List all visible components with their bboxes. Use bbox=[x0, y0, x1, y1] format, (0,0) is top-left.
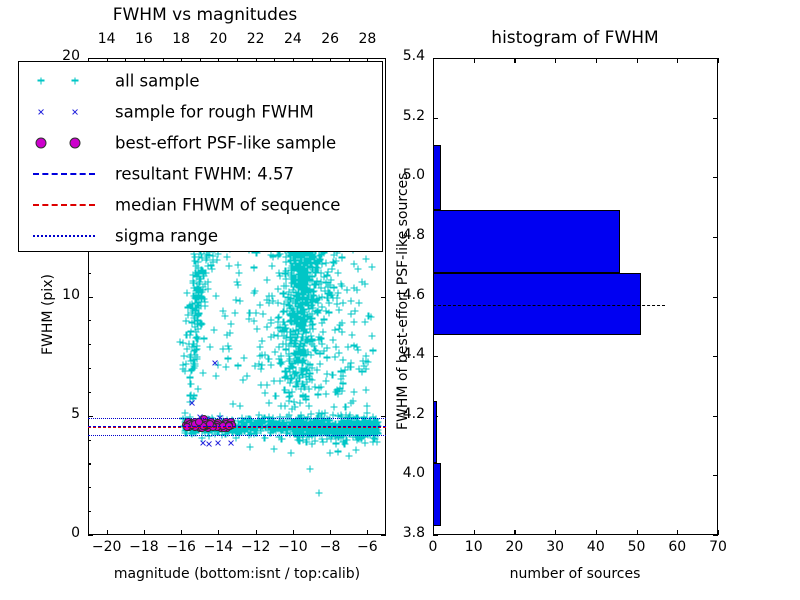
scatter-point-all-sample bbox=[363, 403, 370, 410]
scatter-point-all-sample bbox=[288, 262, 295, 269]
scatter-point-all-sample bbox=[192, 423, 199, 430]
scatter-point-all-sample bbox=[335, 423, 342, 430]
scatter-point-all-sample bbox=[212, 424, 219, 431]
scatter-point-all-sample bbox=[286, 318, 293, 325]
scatter-point-all-sample bbox=[224, 417, 231, 424]
scatter-point-all-sample bbox=[326, 290, 333, 297]
scatter-point-all-sample bbox=[302, 425, 309, 432]
scatter-point-all-sample bbox=[270, 423, 277, 430]
scatter-point-all-sample bbox=[196, 421, 203, 428]
scatter-point-all-sample bbox=[313, 280, 320, 287]
scatter-point-all-sample bbox=[352, 425, 359, 432]
scatter-point-all-sample bbox=[307, 313, 314, 320]
scatter-point-all-sample bbox=[353, 425, 360, 432]
scatter-point-all-sample bbox=[286, 252, 293, 259]
scatter-point-all-sample bbox=[340, 429, 347, 436]
legend-row[interactable]: resultant FWHM: 4.57 bbox=[19, 158, 382, 189]
scatter-point-all-sample bbox=[317, 422, 324, 429]
scatter-point-all-sample bbox=[222, 430, 229, 437]
scatter-point-psf-sample bbox=[213, 423, 221, 431]
scatter-point-all-sample bbox=[316, 384, 323, 391]
scatter-point-all-sample bbox=[341, 440, 348, 447]
scatter-point-all-sample bbox=[196, 294, 203, 301]
scatter-point-all-sample bbox=[256, 420, 263, 427]
scatter-point-all-sample bbox=[281, 425, 288, 432]
scatter-point-all-sample bbox=[191, 422, 198, 429]
scatter-point-all-sample bbox=[316, 360, 323, 367]
scatter-point-all-sample bbox=[300, 268, 307, 275]
scatter-point-all-sample bbox=[180, 362, 187, 369]
scatter-point-all-sample bbox=[191, 363, 198, 370]
scatter-point-all-sample bbox=[295, 427, 302, 434]
scatter-point-all-sample bbox=[290, 298, 297, 305]
scatter-point-all-sample bbox=[324, 426, 331, 433]
scatter-point-all-sample bbox=[193, 342, 200, 349]
scatter-point-all-sample bbox=[223, 254, 230, 261]
scatter-point-all-sample bbox=[192, 295, 199, 302]
legend-row[interactable]: median FHWM of sequence bbox=[19, 189, 382, 220]
scatter-point-all-sample bbox=[187, 381, 194, 388]
scatter-point-all-sample bbox=[214, 362, 221, 369]
scatter-point-all-sample bbox=[286, 351, 293, 358]
legend-row[interactable]: all sample bbox=[19, 65, 382, 96]
scatter-point-all-sample bbox=[349, 332, 356, 339]
scatter-point-all-sample bbox=[299, 349, 306, 356]
scatter-point-all-sample bbox=[227, 426, 234, 433]
scatter-point-all-sample bbox=[314, 419, 321, 426]
scatter-point-all-sample bbox=[303, 258, 310, 265]
scatter-point-all-sample bbox=[288, 309, 295, 316]
scatter-point-all-sample bbox=[222, 426, 229, 433]
scatter-point-all-sample bbox=[215, 428, 222, 435]
scatter-point-all-sample bbox=[314, 264, 321, 271]
scatter-point-all-sample bbox=[238, 424, 245, 431]
scatter-point-all-sample bbox=[305, 292, 312, 299]
scatter-point-all-sample bbox=[321, 316, 328, 323]
scatter-point-psf-sample bbox=[200, 415, 208, 423]
scatter-point-all-sample bbox=[190, 360, 197, 367]
scatter-point-all-sample bbox=[266, 413, 273, 420]
scatter-point-all-sample bbox=[365, 430, 372, 437]
scatter-point-all-sample bbox=[337, 412, 344, 419]
scatter-point-all-sample bbox=[206, 344, 213, 351]
scatter-point-all-sample bbox=[357, 434, 364, 441]
scatter-point-all-sample bbox=[195, 293, 202, 300]
scatter-point-all-sample bbox=[343, 286, 350, 293]
scatter-point-all-sample bbox=[277, 403, 284, 410]
scatter-point-all-sample bbox=[363, 366, 370, 373]
scatter-point-all-sample bbox=[282, 341, 289, 348]
scatter-point-all-sample bbox=[302, 336, 309, 343]
scatter-point-all-sample bbox=[239, 426, 246, 433]
scatter-point-all-sample bbox=[262, 423, 269, 430]
scatter-point-all-sample bbox=[294, 418, 301, 425]
scatter-point-all-sample bbox=[184, 421, 191, 428]
scatter-point-all-sample bbox=[333, 430, 340, 437]
scatter-point-all-sample bbox=[292, 300, 299, 307]
scatter-point-all-sample bbox=[235, 427, 242, 434]
scatter-point-all-sample bbox=[339, 356, 346, 363]
scatter-point-all-sample bbox=[346, 431, 353, 438]
scatter-point-all-sample bbox=[193, 421, 200, 428]
scatter-point-all-sample bbox=[189, 306, 196, 313]
scatter-point-all-sample bbox=[294, 437, 301, 444]
scatter-point-all-sample bbox=[264, 324, 271, 331]
scatter-point-all-sample bbox=[334, 428, 341, 435]
scatter-point-psf-sample bbox=[191, 423, 199, 431]
scatter-point-all-sample bbox=[297, 268, 304, 275]
scatter-point-all-sample bbox=[236, 270, 243, 277]
scatter-point-all-sample bbox=[271, 420, 278, 427]
scatter-point-all-sample bbox=[226, 329, 233, 336]
scatter-point-all-sample bbox=[307, 419, 314, 426]
scatter-point-all-sample bbox=[356, 366, 363, 373]
scatter-point-all-sample bbox=[309, 377, 316, 384]
scatter-point-all-sample bbox=[296, 348, 303, 355]
scatter-point-all-sample bbox=[351, 308, 358, 315]
scatter-point-all-sample bbox=[184, 346, 191, 353]
scatter-point-all-sample bbox=[357, 432, 364, 439]
scatter-point-all-sample bbox=[201, 296, 208, 303]
scatter-point-all-sample bbox=[300, 322, 307, 329]
scatter-point-all-sample bbox=[299, 308, 306, 315]
scatter-point-all-sample bbox=[299, 372, 306, 379]
scatter-point-all-sample bbox=[306, 254, 313, 261]
scatter-point-all-sample bbox=[228, 321, 235, 328]
scatter-point-all-sample bbox=[198, 435, 205, 442]
scatter-point-all-sample bbox=[189, 308, 196, 315]
scatter-point-all-sample bbox=[290, 420, 297, 427]
scatter-point-all-sample bbox=[251, 423, 258, 430]
scatter-point-all-sample bbox=[314, 310, 321, 317]
scatter-point-all-sample bbox=[279, 426, 286, 433]
scatter-point-all-sample bbox=[320, 423, 327, 430]
scatter-point-all-sample bbox=[203, 252, 210, 259]
scatter-point-all-sample bbox=[332, 423, 339, 430]
scatter-point-all-sample bbox=[305, 302, 312, 309]
scatter-point-all-sample bbox=[242, 426, 249, 433]
scatter-point-all-sample bbox=[248, 419, 255, 426]
scatter-point-all-sample bbox=[308, 425, 315, 432]
scatter-point-all-sample bbox=[212, 422, 219, 429]
scatter-point-all-sample bbox=[301, 318, 308, 325]
scatter-point-all-sample bbox=[343, 421, 350, 428]
scatter-point-all-sample bbox=[298, 272, 305, 279]
scatter-point-all-sample bbox=[285, 394, 292, 401]
scatter-point-all-sample bbox=[289, 337, 296, 344]
scatter-point-all-sample bbox=[280, 416, 287, 423]
scatter-point-psf-sample bbox=[185, 423, 193, 431]
scatter-point-all-sample bbox=[243, 373, 250, 380]
scatter-point-all-sample bbox=[335, 428, 342, 435]
scatter-point-all-sample bbox=[303, 296, 310, 303]
scatter-point-all-sample bbox=[294, 427, 301, 434]
scatter-point-all-sample bbox=[299, 437, 306, 444]
scatter-point-all-sample bbox=[304, 422, 311, 429]
scatter-point-all-sample bbox=[267, 430, 274, 437]
scatter-point-psf-sample bbox=[182, 421, 190, 429]
scatter-point-all-sample bbox=[229, 400, 236, 407]
scatter-point-all-sample bbox=[194, 287, 201, 294]
scatter-point-all-sample bbox=[264, 427, 271, 434]
legend-box: all samplesample for rough FWHMbest-effo… bbox=[18, 61, 383, 252]
scatter-point-all-sample bbox=[325, 424, 332, 431]
scatter-point-all-sample bbox=[351, 284, 358, 291]
scatter-point-all-sample bbox=[210, 419, 217, 426]
legend-row[interactable]: best-effort PSF-like sample bbox=[19, 127, 382, 158]
scatter-point-all-sample bbox=[322, 377, 329, 384]
scatter-point-psf-sample bbox=[206, 420, 214, 428]
scatter-point-all-sample bbox=[281, 333, 288, 340]
scatter-point-all-sample bbox=[366, 418, 373, 425]
scatter-point-psf-sample bbox=[184, 421, 192, 429]
scatter-point-all-sample bbox=[313, 348, 320, 355]
scatter-point-all-sample bbox=[293, 358, 300, 365]
scatter-point-all-sample bbox=[294, 294, 301, 301]
scatter-point-all-sample bbox=[289, 332, 296, 339]
scatter-point-all-sample bbox=[281, 374, 288, 381]
scatter-point-all-sample bbox=[363, 256, 370, 263]
scatter-point-all-sample bbox=[298, 314, 305, 321]
scatter-point-all-sample bbox=[306, 429, 313, 436]
scatter-point-all-sample bbox=[193, 335, 200, 342]
scatter-point-psf-sample bbox=[202, 422, 210, 430]
scatter-point-all-sample bbox=[301, 423, 308, 430]
scatter-point-all-sample bbox=[241, 424, 248, 431]
scatter-point-all-sample bbox=[308, 315, 315, 322]
scatter-point-all-sample bbox=[320, 426, 327, 433]
scatter-point-all-sample bbox=[286, 366, 293, 373]
scatter-point-all-sample bbox=[250, 422, 257, 429]
scatter-point-all-sample bbox=[318, 423, 325, 430]
scatter-point-all-sample bbox=[289, 275, 296, 282]
scatter-point-all-sample bbox=[303, 424, 310, 431]
scatter-point-all-sample bbox=[215, 429, 222, 436]
scatter-point-all-sample bbox=[193, 287, 200, 294]
scatter-point-all-sample bbox=[194, 295, 201, 302]
scatter-point-all-sample bbox=[373, 421, 380, 428]
scatter-point-all-sample bbox=[271, 349, 278, 356]
scatter-point-all-sample bbox=[305, 268, 312, 275]
scatter-point-all-sample bbox=[292, 277, 299, 284]
scatter-point-all-sample bbox=[201, 427, 208, 434]
scatter-point-all-sample bbox=[235, 425, 242, 432]
scatter-point-all-sample bbox=[309, 302, 316, 309]
scatter-point-all-sample bbox=[292, 368, 299, 375]
scatter-point-all-sample bbox=[294, 373, 301, 380]
scatter-point-all-sample bbox=[290, 428, 297, 435]
scatter-point-all-sample bbox=[303, 288, 310, 295]
scatter-point-all-sample bbox=[307, 425, 314, 432]
scatter-point-all-sample bbox=[283, 429, 290, 436]
scatter-point-psf-sample bbox=[193, 420, 201, 428]
histogram-x-tick-label: 70 bbox=[709, 539, 727, 555]
scatter-point-all-sample bbox=[302, 275, 309, 282]
scatter-point-all-sample bbox=[190, 348, 197, 355]
scatter-point-all-sample bbox=[321, 423, 328, 430]
scatter-point-all-sample bbox=[198, 424, 205, 431]
scatter-point-all-sample bbox=[251, 288, 258, 295]
scatter-point-all-sample bbox=[312, 418, 319, 425]
scatter-point-all-sample bbox=[286, 353, 293, 360]
scatter-point-all-sample bbox=[314, 258, 321, 265]
scatter-point-all-sample bbox=[287, 364, 294, 371]
scatter-point-all-sample bbox=[193, 346, 200, 353]
scatter-point-all-sample bbox=[294, 351, 301, 358]
scatter-point-all-sample bbox=[216, 425, 223, 432]
scatter-point-all-sample bbox=[269, 263, 276, 270]
scatter-point-all-sample bbox=[299, 342, 306, 349]
scatter-point-all-sample bbox=[283, 373, 290, 380]
scatter-point-all-sample bbox=[198, 421, 205, 428]
scatter-point-all-sample bbox=[349, 425, 356, 432]
scatter-point-all-sample bbox=[288, 279, 295, 286]
scatter-point-all-sample bbox=[300, 346, 307, 353]
legend-row[interactable]: sigma range bbox=[19, 220, 382, 251]
scatter-point-all-sample bbox=[242, 424, 249, 431]
scatter-point-all-sample bbox=[359, 419, 366, 426]
scatter-point-all-sample bbox=[210, 425, 217, 432]
scatter-point-all-sample bbox=[231, 309, 238, 316]
scatter-point-all-sample bbox=[285, 426, 292, 433]
scatter-point-all-sample bbox=[225, 343, 232, 350]
scatter-point-all-sample bbox=[180, 353, 187, 360]
scatter-point-all-sample bbox=[306, 421, 313, 428]
scatter-point-all-sample bbox=[359, 418, 366, 425]
scatter-point-all-sample bbox=[342, 420, 349, 427]
scatter-point-all-sample bbox=[290, 422, 297, 429]
scatter-point-all-sample bbox=[288, 334, 295, 341]
scatter-point-all-sample bbox=[267, 251, 274, 258]
scatter-point-all-sample bbox=[303, 329, 310, 336]
scatter-point-all-sample bbox=[234, 427, 241, 434]
scatter-point-all-sample bbox=[321, 288, 328, 295]
scatter-point-all-sample bbox=[275, 319, 282, 326]
scatter-point-all-sample bbox=[214, 429, 221, 436]
scatter-point-all-sample bbox=[301, 383, 308, 390]
scatter-point-all-sample bbox=[331, 425, 338, 432]
scatter-point-all-sample bbox=[297, 272, 304, 279]
scatter-point-all-sample bbox=[304, 337, 311, 344]
scatter-point-all-sample bbox=[308, 427, 315, 434]
scatter-point-all-sample bbox=[365, 428, 372, 435]
scatter-point-all-sample bbox=[194, 313, 201, 320]
scatter-point-all-sample bbox=[316, 337, 323, 344]
scatter-point-all-sample bbox=[347, 423, 354, 430]
scatter-point-all-sample bbox=[361, 319, 368, 326]
scatter-point-all-sample bbox=[272, 424, 279, 431]
scatter-point-all-sample bbox=[328, 291, 335, 298]
scatter-point-all-sample bbox=[313, 429, 320, 436]
scatter-point-all-sample bbox=[285, 411, 292, 418]
scatter-point-all-sample bbox=[211, 423, 218, 430]
scatter-point-all-sample bbox=[289, 388, 296, 395]
scatter-point-all-sample bbox=[299, 286, 306, 293]
scatter-point-all-sample bbox=[190, 423, 197, 430]
scatter-point-all-sample bbox=[192, 306, 199, 313]
scatter-point-all-sample bbox=[332, 434, 339, 441]
scatter-point-all-sample bbox=[323, 423, 330, 430]
scatter-point-all-sample bbox=[372, 429, 379, 436]
scatter-point-all-sample bbox=[193, 305, 200, 312]
scatter-point-all-sample bbox=[299, 282, 306, 289]
scatter-top-tick-label: 20 bbox=[209, 31, 227, 47]
scatter-point-all-sample bbox=[339, 418, 346, 425]
scatter-point-all-sample bbox=[369, 263, 376, 270]
scatter-point-all-sample bbox=[353, 421, 360, 428]
scatter-point-all-sample bbox=[345, 363, 352, 370]
scatter-point-all-sample bbox=[308, 422, 315, 429]
scatter-point-all-sample bbox=[230, 427, 237, 434]
scatter-point-all-sample bbox=[205, 425, 212, 432]
scatter-point-all-sample bbox=[270, 427, 277, 434]
scatter-point-all-sample bbox=[303, 426, 310, 433]
scatter-point-all-sample bbox=[343, 430, 350, 437]
scatter-point-all-sample bbox=[300, 259, 307, 266]
scatter-point-all-sample bbox=[192, 328, 199, 335]
scatter-point-all-sample bbox=[299, 322, 306, 329]
scatter-point-all-sample bbox=[253, 429, 260, 436]
scatter-point-all-sample bbox=[188, 352, 195, 359]
scatter-point-all-sample bbox=[315, 409, 322, 416]
scatter-point-all-sample bbox=[331, 251, 338, 258]
scatter-point-all-sample bbox=[303, 421, 310, 428]
scatter-point-all-sample bbox=[370, 421, 377, 428]
scatter-point-all-sample bbox=[211, 425, 218, 432]
scatter-point-all-sample bbox=[232, 424, 239, 431]
scatter-point-all-sample bbox=[299, 321, 306, 328]
scatter-point-all-sample bbox=[285, 295, 292, 302]
legend-row[interactable]: sample for rough FWHM bbox=[19, 96, 382, 127]
scatter-point-all-sample bbox=[302, 269, 309, 276]
scatter-point-all-sample bbox=[337, 281, 344, 288]
scatter-point-all-sample bbox=[188, 301, 195, 308]
scatter-point-all-sample bbox=[312, 267, 319, 274]
scatter-point-all-sample bbox=[298, 432, 305, 439]
scatter-point-all-sample bbox=[334, 424, 341, 431]
scatter-point-all-sample bbox=[297, 286, 304, 293]
scatter-point-all-sample bbox=[330, 426, 337, 433]
scatter-point-all-sample bbox=[306, 256, 313, 263]
scatter-point-all-sample bbox=[308, 427, 315, 434]
scatter-point-all-sample bbox=[195, 425, 202, 432]
scatter-point-all-sample bbox=[188, 430, 195, 437]
scatter-point-all-sample bbox=[313, 418, 320, 425]
scatter-point-all-sample bbox=[291, 420, 298, 427]
scatter-point-all-sample bbox=[183, 430, 190, 437]
scatter-point-all-sample bbox=[265, 424, 272, 431]
scatter-point-all-sample bbox=[189, 422, 196, 429]
scatter-point-all-sample bbox=[294, 289, 301, 296]
scatter-point-all-sample bbox=[322, 425, 329, 432]
scatter-point-psf-sample bbox=[227, 418, 235, 426]
scatter-point-all-sample bbox=[313, 261, 320, 268]
scatter-point-psf-sample bbox=[204, 421, 212, 429]
scatter-point-all-sample bbox=[296, 259, 303, 266]
scatter-point-all-sample bbox=[225, 427, 232, 434]
scatter-point-all-sample bbox=[292, 383, 299, 390]
scatter-point-all-sample bbox=[327, 435, 334, 442]
scatter-point-all-sample bbox=[190, 280, 197, 287]
scatter-point-all-sample bbox=[328, 265, 335, 272]
scatter-point-all-sample bbox=[239, 420, 246, 427]
scatter-point-all-sample bbox=[291, 335, 298, 342]
scatter-point-all-sample bbox=[354, 422, 361, 429]
scatter-point-all-sample bbox=[306, 302, 313, 309]
scatter-point-all-sample bbox=[297, 427, 304, 434]
scatter-point-all-sample bbox=[191, 423, 198, 430]
scatter-point-all-sample bbox=[358, 427, 365, 434]
